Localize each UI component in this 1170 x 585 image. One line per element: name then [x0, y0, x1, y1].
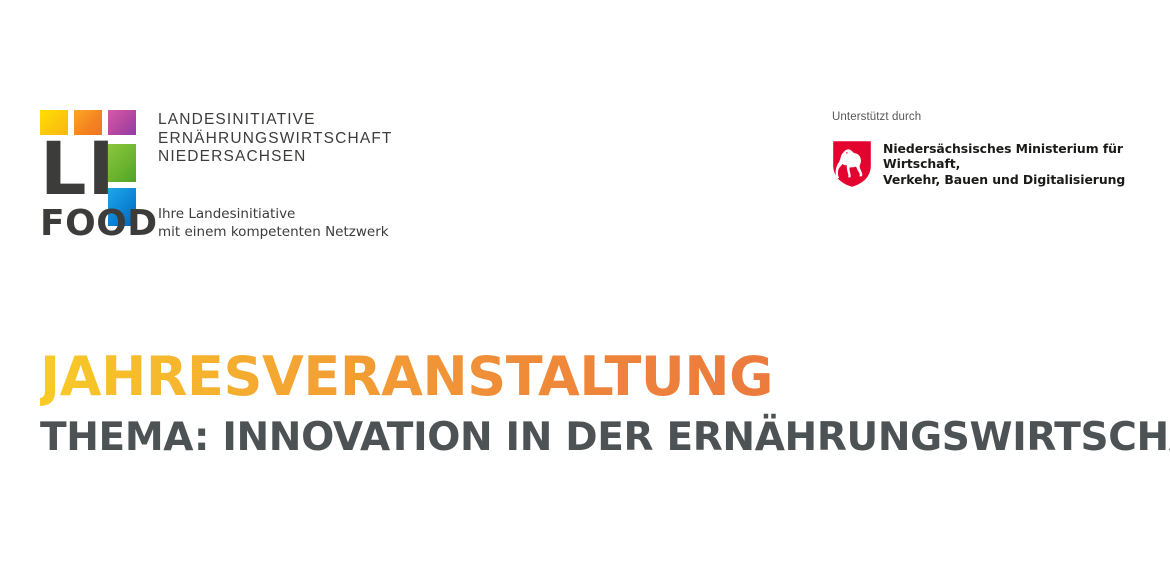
supporter-block: Unterstützt durch Niedersächsisches Mini… [832, 110, 1170, 188]
li-food-logo-mark: LI FOOD [40, 110, 141, 236]
page-title: JAHRESVERANSTALTUNG [40, 348, 773, 406]
ministry-name: Niedersächsisches Ministerium für Wirtsc… [883, 141, 1170, 188]
hero-block: JAHRESVERANSTALTUNG THEMA: INNOVATION IN… [40, 348, 1140, 461]
page-subtitle: THEMA: INNOVATION IN DER ERNÄHRUNGSWIRTS… [40, 415, 1140, 461]
logo-word-food: FOOD [40, 206, 158, 242]
logo-tagline: Ihre Landesinitiative mit einem kompeten… [158, 205, 393, 241]
li-food-logo[interactable]: LI FOOD LANDESINITIATIVE ERNÄHRUNGSWIRTS… [40, 110, 393, 241]
organization-name: LANDESINITIATIVE ERNÄHRUNGSWIRTSCHAFT NI… [158, 111, 393, 167]
logo-text-block: LANDESINITIATIVE ERNÄHRUNGSWIRTSCHAFT NI… [158, 110, 393, 241]
ministry-row: Niedersächsisches Ministerium für Wirtsc… [832, 140, 1170, 188]
logo-letters-li: LI [40, 137, 116, 203]
supporter-label: Unterstützt durch [832, 110, 1170, 124]
lower-saxony-coat-of-arms-icon [832, 140, 872, 188]
header-band: LI FOOD LANDESINITIATIVE ERNÄHRUNGSWIRTS… [0, 0, 1170, 260]
